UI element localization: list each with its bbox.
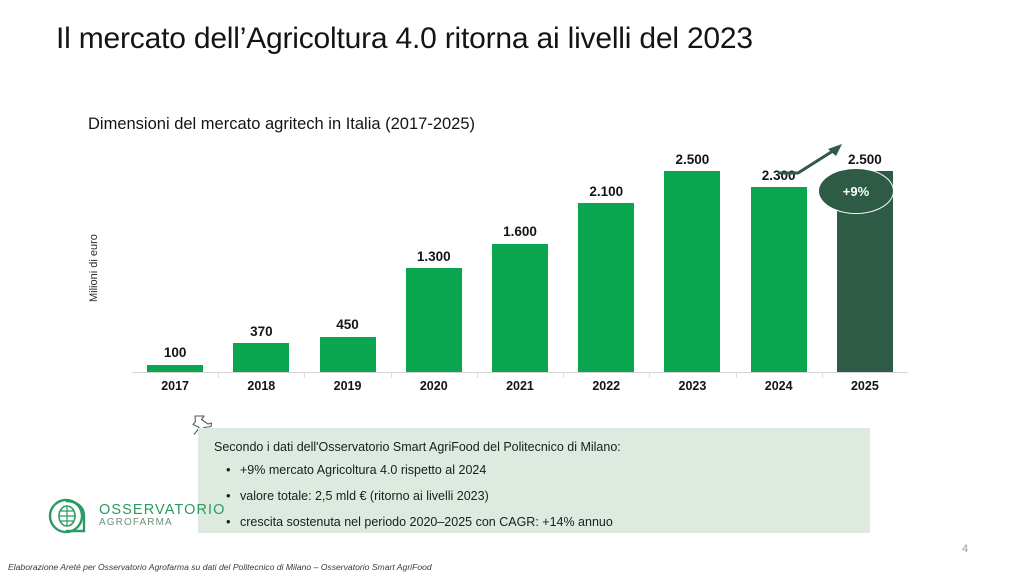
bar-rect-2019 — [320, 337, 376, 373]
bar-rect-2022 — [578, 203, 634, 373]
bar-2018: 370 — [233, 140, 289, 373]
x-axis-line — [132, 372, 908, 373]
bar-value-label-2023: 2.500 — [676, 153, 710, 167]
bar-2021: 1.600 — [492, 140, 548, 373]
x-axis-tick — [304, 372, 305, 378]
x-tick-label-2019: 2019 — [304, 379, 390, 393]
x-tick-label-2022: 2022 — [563, 379, 649, 393]
note-bullet-item: crescita sostenuta nel periodo 2020–2025… — [226, 515, 870, 529]
x-axis-tick — [477, 372, 478, 378]
bar-rect-2020 — [406, 268, 462, 373]
logo: OSSERVATORIO AGROFARMA — [46, 492, 226, 540]
bar-2020: 1.300 — [406, 140, 462, 373]
note-bullet-item: valore totale: 2,5 mld € (ritorno ai liv… — [226, 489, 870, 503]
bar-rect-2021 — [492, 244, 548, 373]
insights-note-box: Secondo i dati dell'Osservatorio Smart A… — [198, 428, 870, 533]
logo-name: OSSERVATORIO — [99, 503, 226, 518]
y-axis-label: Milioni di euro — [88, 213, 106, 323]
x-tick-label-2024: 2024 — [736, 379, 822, 393]
logo-subtitle: AGROFARMA — [99, 518, 226, 529]
note-heading: Secondo i dati dell'Osservatorio Smart A… — [214, 440, 870, 454]
bar-value-label-2022: 2.100 — [589, 185, 623, 199]
note-bullet-list: +9% mercato Agricoltura 4.0 rispetto al … — [198, 463, 870, 529]
x-axis-tick-labels: 201720182019202020212022202320242025 — [132, 379, 908, 399]
bar-rect-2024 — [751, 187, 807, 373]
page-number: 4 — [962, 543, 968, 555]
x-tick-label-2020: 2020 — [391, 379, 477, 393]
osservatorio-agrofarma-mark-icon — [46, 495, 90, 537]
x-tick-label-2018: 2018 — [218, 379, 304, 393]
x-tick-label-2025: 2025 — [822, 379, 908, 393]
bar-2022: 2.100 — [578, 140, 634, 373]
x-axis-tick — [822, 372, 823, 378]
bar-value-label-2018: 370 — [250, 325, 273, 339]
x-axis-tick — [736, 372, 737, 378]
page-title: Il mercato dell’Agricoltura 4.0 ritorna … — [56, 22, 753, 56]
x-axis-tick — [563, 372, 564, 378]
bar-2017: 100 — [147, 140, 203, 373]
x-tick-label-2023: 2023 — [649, 379, 735, 393]
bar-value-label-2025: 2.500 — [848, 153, 882, 167]
bar-2023: 2.500 — [664, 140, 720, 373]
x-tick-label-2017: 2017 — [132, 379, 218, 393]
bar-2019: 450 — [320, 140, 376, 373]
x-tick-label-2021: 2021 — [477, 379, 563, 393]
bar-value-label-2017: 100 — [164, 346, 187, 360]
bar-rect-2018 — [233, 343, 289, 373]
bar-rect-2023 — [664, 171, 720, 373]
x-axis-tick — [391, 372, 392, 378]
bar-value-label-2020: 1.300 — [417, 250, 451, 264]
footer-source-note: Elaborazione Areté per Osservatorio Agro… — [8, 562, 432, 572]
chart-title: Dimensioni del mercato agritech in Itali… — [88, 115, 475, 134]
growth-percentage-badge: +9% — [818, 168, 894, 214]
slide: Il mercato dell’Agricoltura 4.0 ritorna … — [0, 0, 1024, 578]
x-axis-tick — [218, 372, 219, 378]
bar-value-label-2019: 450 — [336, 318, 359, 332]
x-axis-tick — [649, 372, 650, 378]
bar-value-label-2021: 1.600 — [503, 225, 537, 239]
note-bullet-item: +9% mercato Agricoltura 4.0 rispetto al … — [226, 463, 870, 477]
